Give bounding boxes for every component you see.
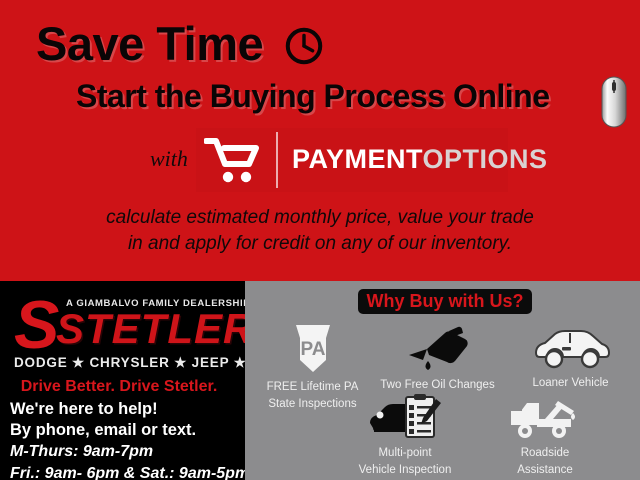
logo-dealer-name: STETLER [56,307,254,351]
feature-label-2: Vehicle Inspection [330,463,480,477]
feature-loaner-vehicle: Loaner Vehicle [508,321,633,390]
with-label: with [150,146,188,172]
why-buy-title: Why Buy with Us? [358,289,532,314]
contact-line-1: We're here to help! [10,399,249,420]
hero-tagline: calculate estimated monthly price, value… [0,205,640,257]
car-icon [530,321,612,373]
clipboard-inspection-icon [366,393,444,443]
feature-label-1: Loaner Vehicle [508,376,633,390]
oil-can-icon [401,325,475,375]
shopping-cart-icon [204,136,262,184]
contact-line-2: By phone, email or text. [10,420,249,441]
feature-label-1: Two Free Oil Changes [370,378,505,392]
feature-label-1: Multi-point [330,446,480,460]
payment-options-row: with PAYMENTOPTIONS [0,128,640,194]
tagline-line-2: in and apply for credit on any of our in… [0,231,640,257]
payment-options-logo: PAYMENTOPTIONS [196,128,508,192]
stetler-logo: S A GIAMBALVO FAMILY DEALERSHIP STETLER … [0,285,245,380]
feature-multipoint-inspection: Multi-point Vehicle Inspection [330,393,480,477]
dealer-slogan: Drive Better. Drive Stetler. [0,378,238,396]
pa-keystone-icon: PA [287,321,339,377]
contact-block: We're here to help! By phone, email or t… [10,399,249,480]
why-buy-banner: Why Buy with Us? [358,289,532,314]
logo-letter-s: S [14,291,59,359]
feature-roadside-assistance: Roadside Assistance [480,393,610,477]
headline-save-time: Save Time [36,16,263,71]
tagline-line-1: calculate estimated monthly price, value… [0,205,640,231]
hours-line-1: M-Thurs: 9am-7pm [10,441,249,463]
payment-word: PAYMENT [292,144,423,174]
logo-brands: DODGE ★ CHRYSLER ★ JEEP ★ RAM [14,355,234,371]
payment-options-text: PAYMENTOPTIONS [292,144,548,175]
feature-oil-changes: Two Free Oil Changes [370,325,505,392]
tow-truck-icon [509,393,581,443]
svg-text:PA: PA [300,339,325,360]
feature-label-1: FREE Lifetime PA [255,380,370,394]
feature-label-1: Roadside [480,446,610,460]
why-buy-panel: Why Buy with Us? PA FREE Lifetime PA Sta… [245,281,640,480]
advertisement-banner: Save Time Start the Buying Process Onlin… [0,0,640,480]
logo-divider [276,132,278,188]
headline-start-buying: Start the Buying Process Online [76,78,550,115]
hero-section: Save Time Start the Buying Process Onlin… [0,0,640,281]
options-word: OPTIONS [423,144,548,174]
computer-mouse-icon [601,76,627,128]
hours-line-2: Fri.: 9am- 6pm & Sat.: 9am-5pm [10,463,249,480]
feature-label-2: Assistance [480,463,610,477]
dealer-info-panel: S A GIAMBALVO FAMILY DEALERSHIP STETLER … [0,281,245,480]
clock-icon [283,25,325,67]
